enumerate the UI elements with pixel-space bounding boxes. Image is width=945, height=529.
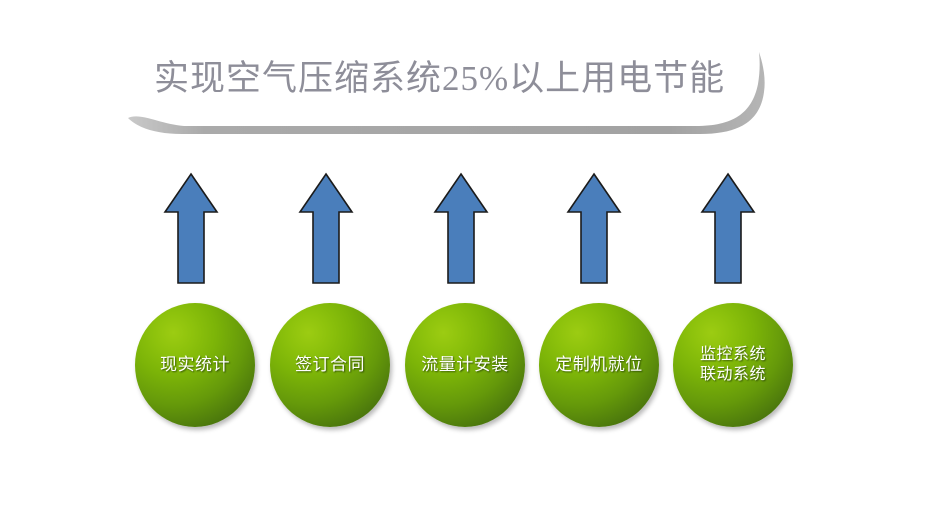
step-circle-label-3: 流量计安装	[417, 354, 513, 375]
step-circle-5[interactable]: 监控系统 联动系统	[673, 303, 793, 427]
up-arrow-icon-3	[433, 172, 489, 290]
up-arrow-icon-1	[163, 172, 219, 290]
up-arrow-icon-4	[566, 172, 622, 290]
title-banner: 实现空气压缩系统25%以上用电节能	[126, 34, 786, 144]
slide-canvas: 实现空气压缩系统25%以上用电节能	[0, 0, 945, 529]
up-arrow-icon-2	[298, 172, 354, 290]
step-circle-3[interactable]: 流量计安装	[405, 303, 525, 427]
step-circle-label-4: 定制机就位	[551, 354, 647, 375]
step-circle-label-5: 监控系统 联动系统	[696, 345, 770, 385]
page-title: 实现空气压缩系统25%以上用电节能	[154, 48, 774, 110]
up-arrow-icon-5	[700, 172, 756, 290]
step-circle-4[interactable]: 定制机就位	[539, 303, 659, 427]
step-circle-label-2: 签订合同	[291, 354, 369, 375]
step-circle-label-1: 现实统计	[156, 354, 234, 375]
step-circle-2[interactable]: 签订合同	[270, 303, 390, 427]
step-circle-1[interactable]: 现实统计	[135, 303, 255, 427]
step-circle-group: 现实统计 签订合同 流量计安装 定制机就位 监控系统 联动系统	[135, 303, 815, 429]
